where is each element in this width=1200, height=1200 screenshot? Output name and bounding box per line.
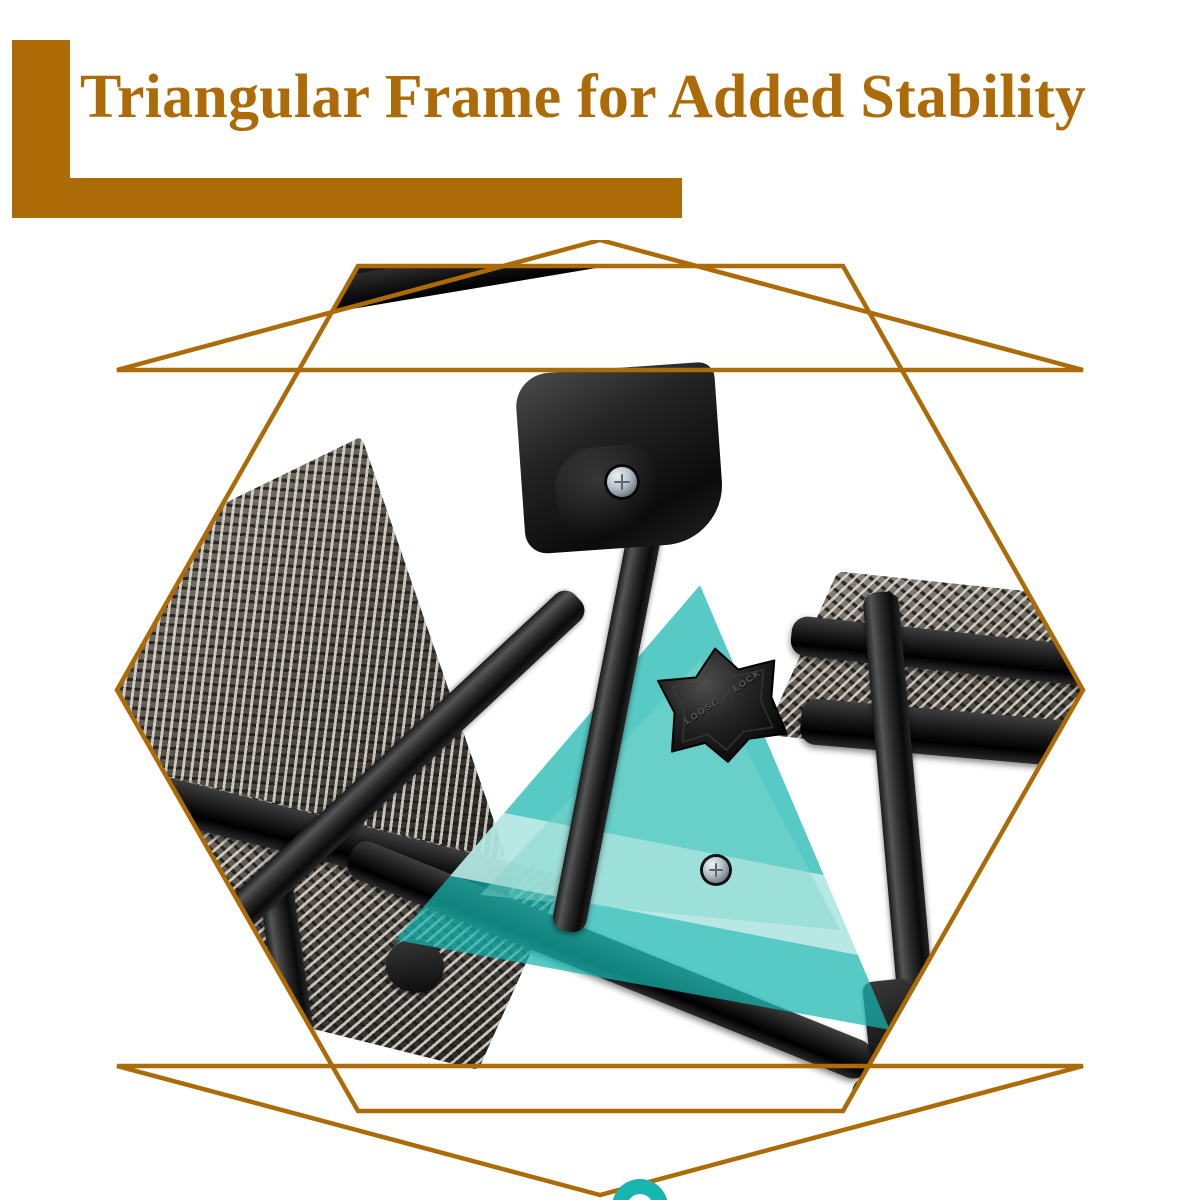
hexagon-frame [0, 240, 1200, 1200]
weight-icon: 330lbs [568, 1173, 712, 1200]
product-stage: LOOSE ← LOCK Support up to 330 LBS [0, 240, 1200, 1200]
header-banner: Triangular Frame for Added Stability [0, 0, 1200, 240]
triangle-up-outline [117, 240, 1083, 370]
header-accent-horizontal-bar [12, 178, 682, 218]
page-title: Triangular Frame for Added Stability [80, 57, 1198, 137]
hexagon-outline [117, 266, 1083, 1111]
